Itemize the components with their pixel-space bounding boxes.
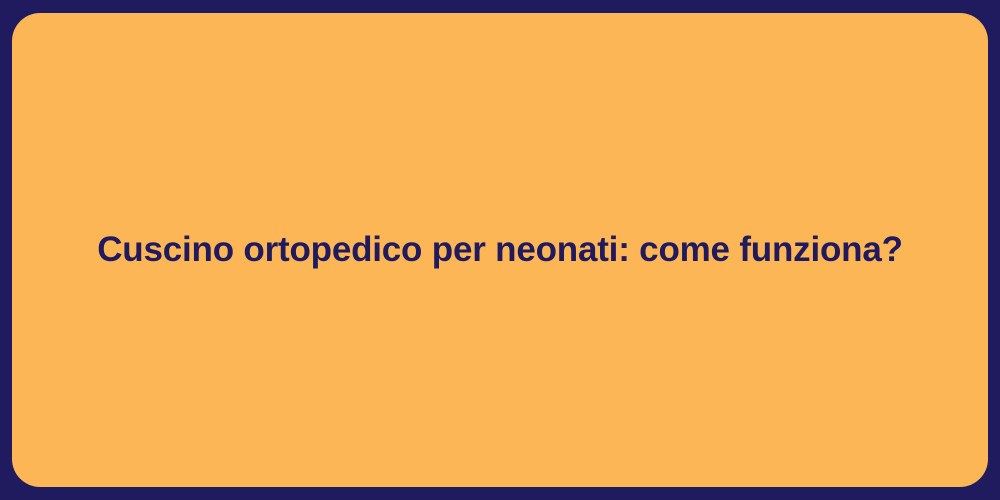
page-title: Cuscino ortopedico per neonati: come fun…: [97, 228, 903, 272]
article-card-panel: Cuscino ortopedico per neonati: come fun…: [12, 13, 988, 487]
article-card-frame: Cuscino ortopedico per neonati: come fun…: [0, 0, 1000, 500]
